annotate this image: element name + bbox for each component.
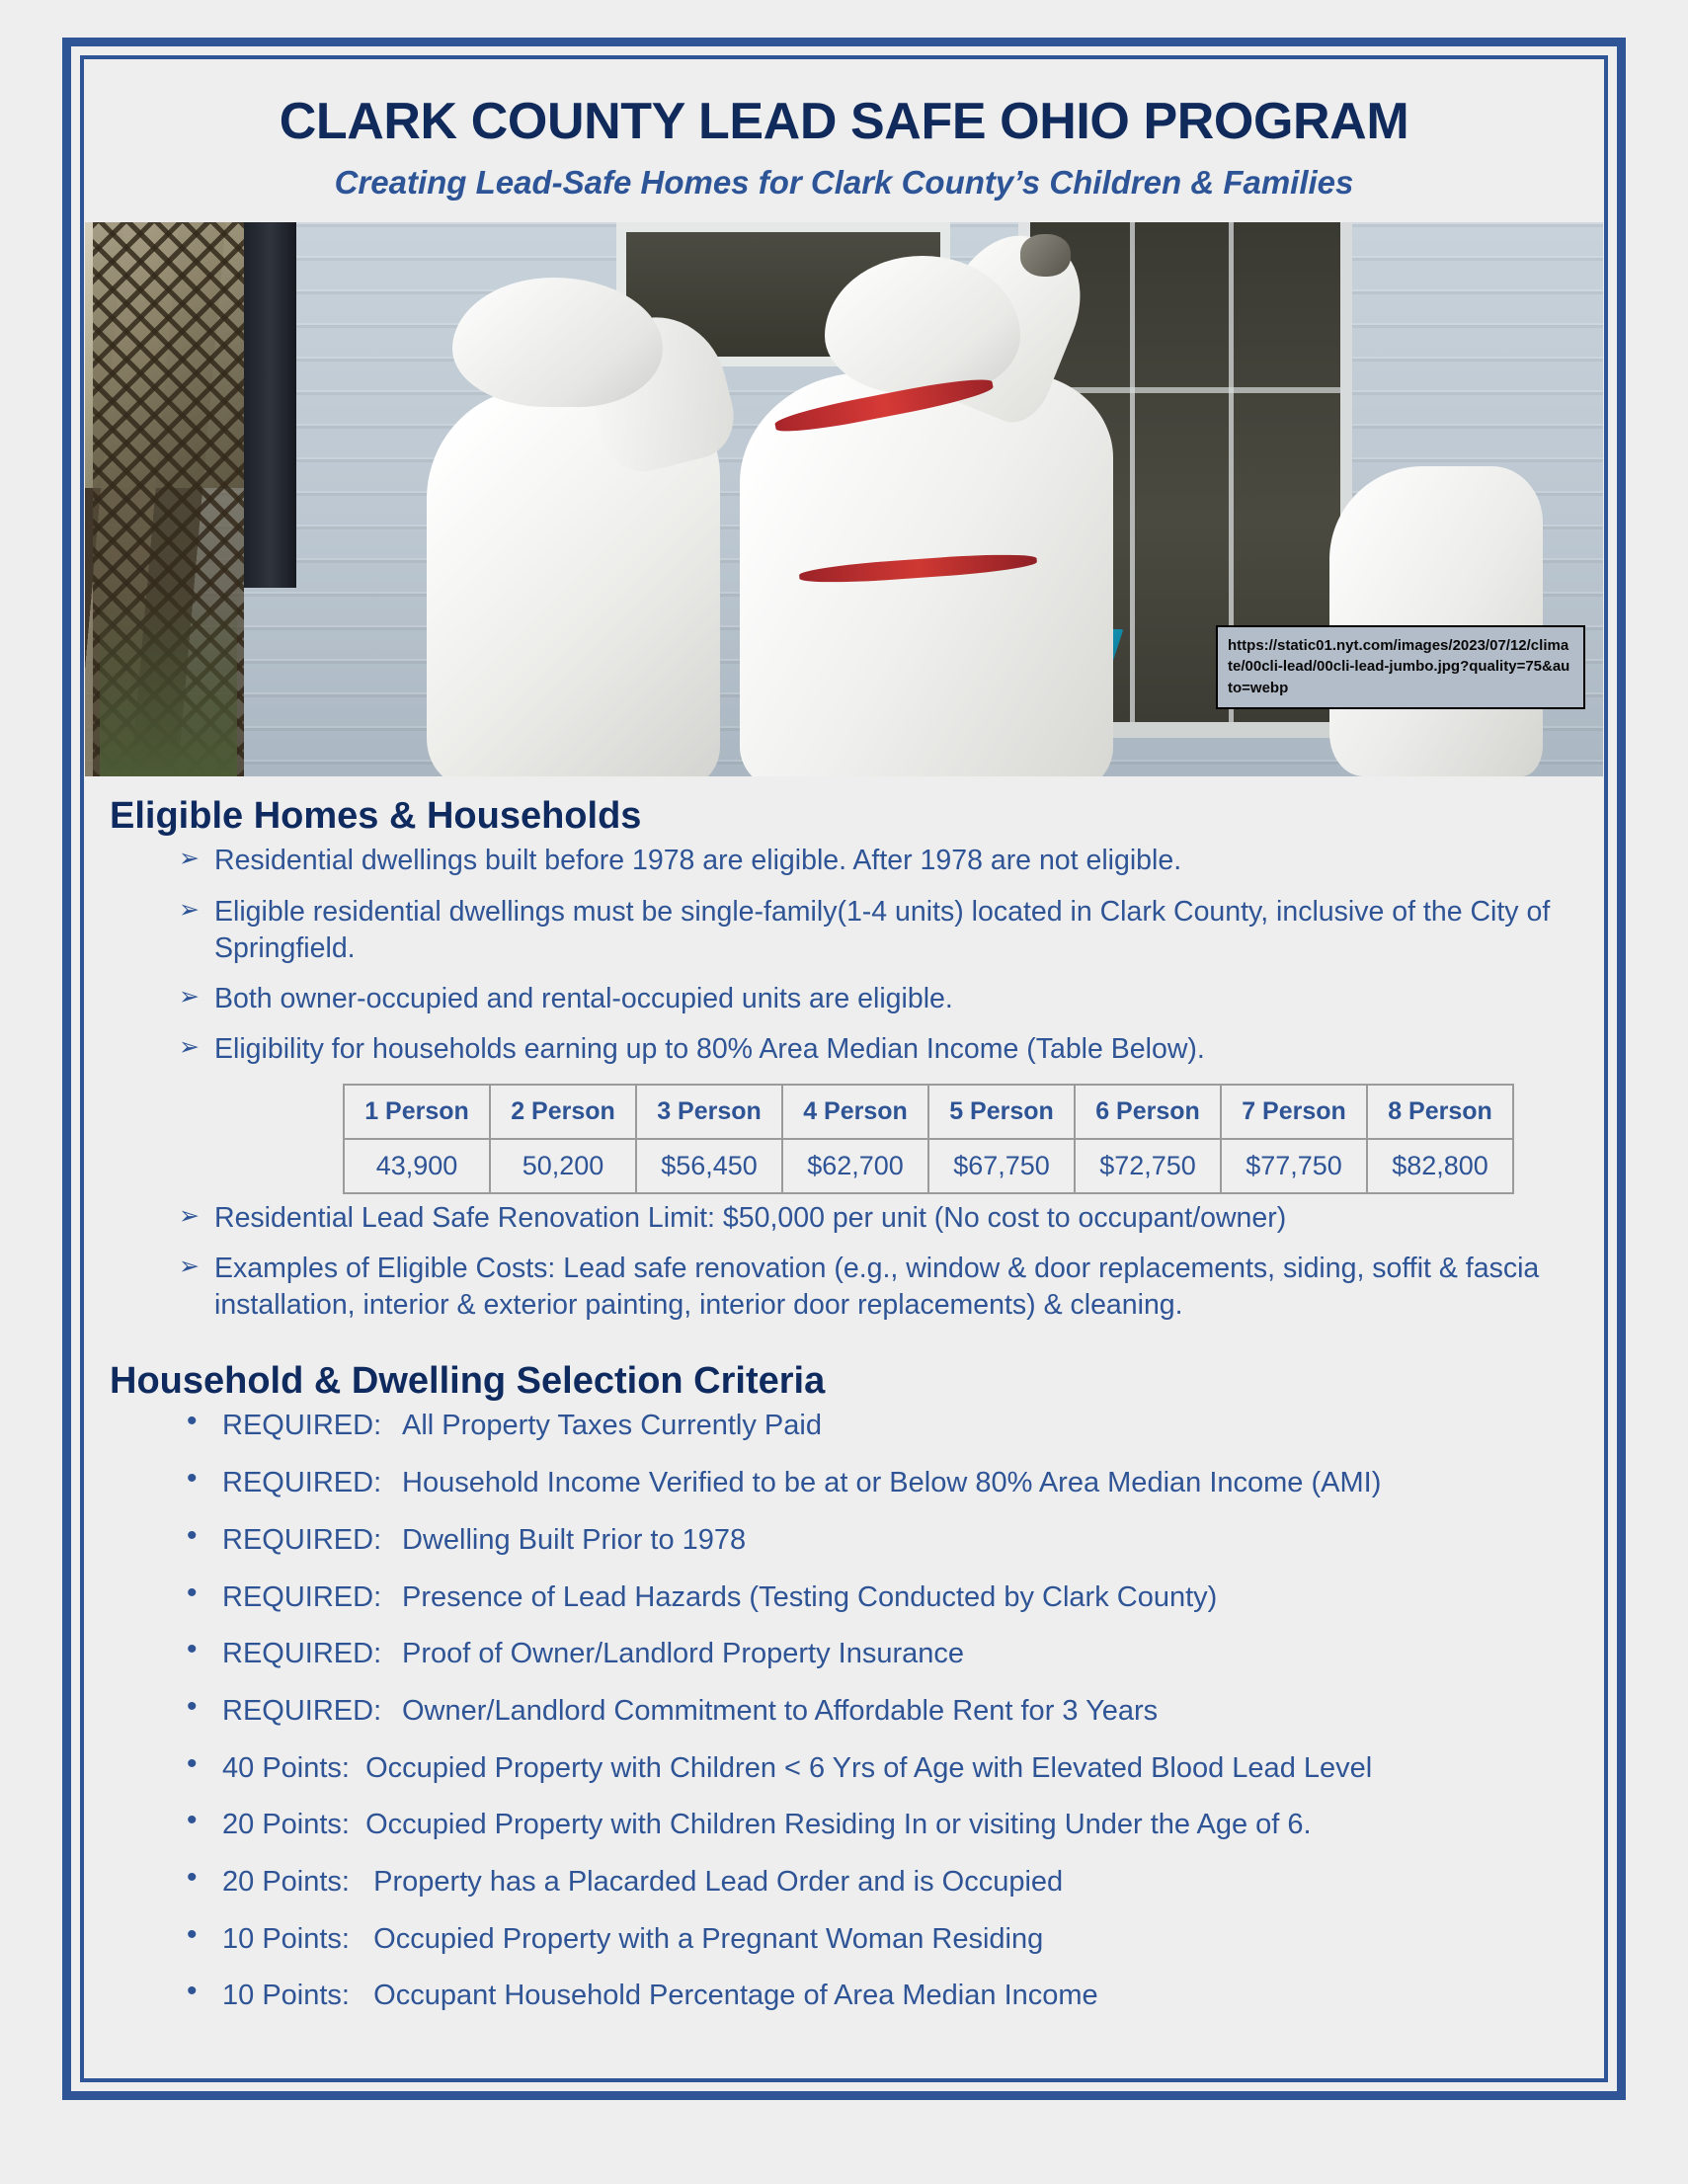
chevron-bullet-icon: ➢ bbox=[179, 894, 200, 927]
income-table-zone: 1 Person 2 Person 3 Person 4 Person 5 Pe… bbox=[84, 1082, 1604, 1200]
table-cell: $77,750 bbox=[1221, 1139, 1367, 1193]
hero-photo: https://static01.nyt.com/images/2023/07/… bbox=[85, 222, 1603, 776]
chevron-bullet-icon: ➢ bbox=[179, 843, 200, 875]
criteria-label: REQUIRED: bbox=[222, 1579, 402, 1617]
list-item: ➢ Both owner-occupied and rental-occupie… bbox=[84, 981, 1604, 1031]
criteria-text: Owner/Landlord Commitment to Affordable … bbox=[402, 1695, 1158, 1727]
table-header-cell: 6 Person bbox=[1075, 1085, 1221, 1139]
photo-shrub bbox=[100, 588, 236, 776]
list-item: • 20 Points: Occupied Property with Chil… bbox=[84, 1807, 1604, 1864]
section-heading-selection-criteria: Household & Dwelling Selection Criteria bbox=[84, 1337, 1604, 1409]
photo-worker-right bbox=[723, 256, 1148, 776]
criteria-label: REQUIRED: bbox=[222, 1636, 402, 1673]
list-item: • REQUIRED:Household Income Verified to … bbox=[84, 1465, 1604, 1522]
table-header-cell: 4 Person bbox=[782, 1085, 928, 1139]
table-header-cell: 3 Person bbox=[636, 1085, 782, 1139]
table-header-cell: 7 Person bbox=[1221, 1085, 1367, 1139]
criteria-text: Dwelling Built Prior to 1978 bbox=[402, 1524, 746, 1556]
list-item-text: Eligible residential dwellings must be s… bbox=[214, 896, 1550, 964]
list-item: • REQUIRED:Proof of Owner/Landlord Prope… bbox=[84, 1636, 1604, 1693]
photo-worker-far-right bbox=[1329, 466, 1542, 776]
list-item: • REQUIRED:Dwelling Built Prior to 1978 bbox=[84, 1522, 1604, 1579]
criteria-text: Occupied Property with Children Residing… bbox=[365, 1809, 1312, 1840]
criteria-label: 20 Points: bbox=[222, 1864, 350, 1901]
list-item-text: Residential Lead Safe Renovation Limit: … bbox=[214, 1202, 1286, 1234]
table-cell: $62,700 bbox=[782, 1139, 928, 1193]
table-header-cell: 5 Person bbox=[928, 1085, 1075, 1139]
list-item: • REQUIRED:All Property Taxes Currently … bbox=[84, 1408, 1604, 1465]
list-item: • 10 Points: Occupied Property with a Pr… bbox=[84, 1921, 1604, 1979]
chevron-bullet-icon: ➢ bbox=[179, 1200, 200, 1233]
dot-bullet-icon: • bbox=[187, 1636, 198, 1664]
table-header-cell: 2 Person bbox=[490, 1085, 636, 1139]
table-cell: $82,800 bbox=[1367, 1139, 1513, 1193]
table-cell: 43,900 bbox=[344, 1139, 490, 1193]
list-item: ➢ Examples of Eligible Costs: Lead safe … bbox=[84, 1251, 1604, 1337]
list-item-text: Residential dwellings built before 1978 … bbox=[214, 845, 1181, 876]
dot-bullet-icon: • bbox=[187, 1465, 198, 1494]
list-item: ➢ Eligible residential dwellings must be… bbox=[84, 894, 1604, 981]
table-cell: 50,200 bbox=[490, 1139, 636, 1193]
criteria-label: 40 Points: bbox=[222, 1750, 350, 1788]
area-median-income-table: 1 Person 2 Person 3 Person 4 Person 5 Pe… bbox=[343, 1084, 1514, 1194]
table-cell: $72,750 bbox=[1075, 1139, 1221, 1193]
dot-bullet-icon: • bbox=[187, 1693, 198, 1722]
criteria-text: Occupied Property with Children < 6 Yrs … bbox=[365, 1752, 1372, 1784]
criteria-label: REQUIRED: bbox=[222, 1408, 402, 1445]
photo-worker-right-glove bbox=[1020, 234, 1072, 277]
criteria-text: Presence of Lead Hazards (Testing Conduc… bbox=[402, 1581, 1217, 1613]
list-item-text: Examples of Eligible Costs: Lead safe re… bbox=[214, 1253, 1539, 1321]
table-cell: $67,750 bbox=[928, 1139, 1075, 1193]
chevron-bullet-icon: ➢ bbox=[179, 1031, 200, 1064]
flyer-content: CLARK COUNTY LEAD SAFE OHIO PROGRAM Crea… bbox=[84, 59, 1604, 2078]
dot-bullet-icon: • bbox=[187, 1978, 198, 2006]
page-subtitle: Creating Lead-Safe Homes for Clark Count… bbox=[84, 149, 1604, 201]
criteria-label: REQUIRED: bbox=[222, 1465, 402, 1502]
dot-bullet-icon: • bbox=[187, 1864, 198, 1893]
criteria-text: Occupant Household Percentage of Area Me… bbox=[373, 1980, 1098, 2011]
selection-criteria-list: • REQUIRED:All Property Taxes Currently … bbox=[84, 1408, 1604, 2035]
eligible-costs-list: ➢ Residential Lead Safe Renovation Limit… bbox=[84, 1200, 1604, 1337]
criteria-label: REQUIRED: bbox=[222, 1522, 402, 1560]
chevron-bullet-icon: ➢ bbox=[179, 1251, 200, 1283]
table-header-cell: 1 Person bbox=[344, 1085, 490, 1139]
list-item: ➢ Residential dwellings built before 197… bbox=[84, 843, 1604, 893]
list-item-text: Eligibility for households earning up to… bbox=[214, 1033, 1205, 1065]
dot-bullet-icon: • bbox=[187, 1750, 198, 1779]
dot-bullet-icon: • bbox=[187, 1579, 198, 1608]
dot-bullet-icon: • bbox=[187, 1921, 198, 1950]
list-item: ➢ Residential Lead Safe Renovation Limit… bbox=[84, 1200, 1604, 1251]
criteria-label: 10 Points: bbox=[222, 1978, 350, 2015]
criteria-text: All Property Taxes Currently Paid bbox=[402, 1410, 822, 1441]
list-item: ➢ Eligibility for households earning up … bbox=[84, 1031, 1604, 1082]
list-item: • REQUIRED:Owner/Landlord Commitment to … bbox=[84, 1693, 1604, 1750]
section-heading-eligible-homes: Eligible Homes & Households bbox=[84, 776, 1604, 844]
criteria-label: 10 Points: bbox=[222, 1921, 350, 1959]
criteria-text: Property has a Placarded Lead Order and … bbox=[373, 1866, 1063, 1898]
list-item-text: Both owner-occupied and rental-occupied … bbox=[214, 983, 953, 1014]
page-title: CLARK COUNTY LEAD SAFE OHIO PROGRAM bbox=[84, 59, 1604, 149]
table-header-row: 1 Person 2 Person 3 Person 4 Person 5 Pe… bbox=[344, 1085, 1513, 1139]
list-item: • 20 Points: Property has a Placarded Le… bbox=[84, 1864, 1604, 1921]
criteria-text: Occupied Property with a Pregnant Woman … bbox=[373, 1923, 1043, 1955]
dot-bullet-icon: • bbox=[187, 1522, 198, 1551]
list-item: • 40 Points: Occupied Property with Chil… bbox=[84, 1750, 1604, 1808]
dot-bullet-icon: • bbox=[187, 1408, 198, 1436]
dot-bullet-icon: • bbox=[187, 1807, 198, 1835]
photo-dark-post bbox=[244, 222, 295, 588]
table-row: 43,900 50,200 $56,450 $62,700 $67,750 $7… bbox=[344, 1139, 1513, 1193]
photo-worker-left bbox=[427, 278, 746, 776]
flyer-page: CLARK COUNTY LEAD SAFE OHIO PROGRAM Crea… bbox=[0, 0, 1688, 2184]
eligible-homes-list: ➢ Residential dwellings built before 197… bbox=[84, 843, 1604, 1081]
chevron-bullet-icon: ➢ bbox=[179, 981, 200, 1013]
criteria-label: 20 Points: bbox=[222, 1807, 350, 1844]
list-item: • REQUIRED:Presence of Lead Hazards (Tes… bbox=[84, 1579, 1604, 1637]
photo-worker-left-hood bbox=[452, 278, 663, 407]
criteria-label: REQUIRED: bbox=[222, 1693, 402, 1731]
list-item: • 10 Points: Occupant Household Percenta… bbox=[84, 1978, 1604, 2035]
table-cell: $56,450 bbox=[636, 1139, 782, 1193]
criteria-text: Proof of Owner/Landlord Property Insuran… bbox=[402, 1638, 964, 1669]
criteria-text: Household Income Verified to be at or Be… bbox=[402, 1467, 1381, 1498]
photo-credit-url: https://static01.nyt.com/images/2023/07/… bbox=[1216, 625, 1585, 709]
table-header-cell: 8 Person bbox=[1367, 1085, 1513, 1139]
